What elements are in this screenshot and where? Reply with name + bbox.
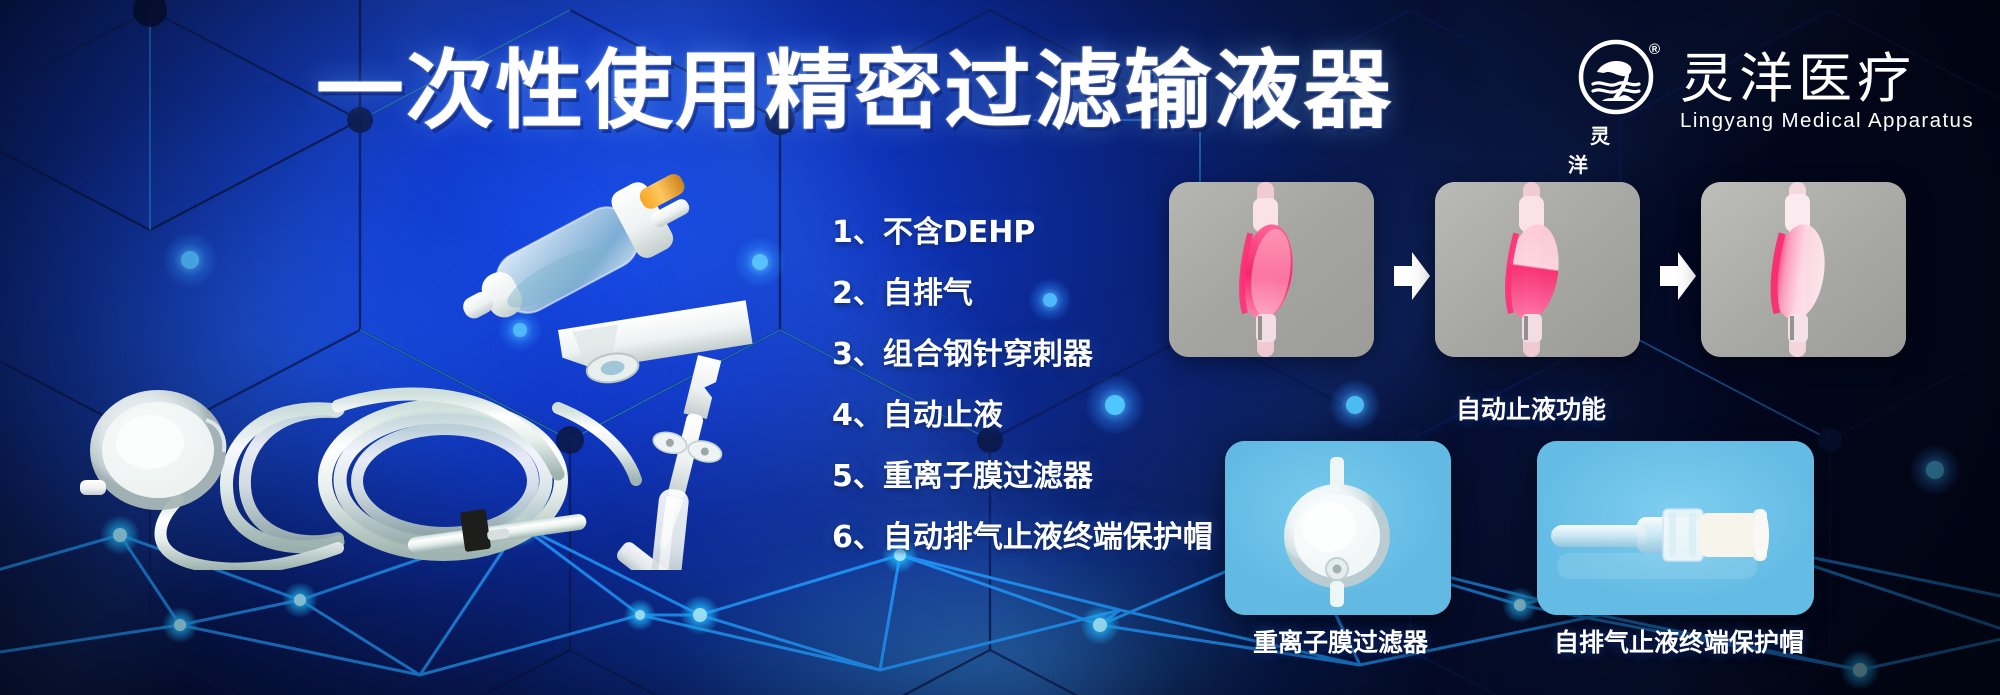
logo-text: 灵洋医疗 Lingyang Medical Apparatus bbox=[1680, 51, 1974, 134]
brand-name-cn: 灵洋医疗 bbox=[1680, 51, 1974, 108]
feature-list: 1、不含DEHP 2、自排气 3、组合钢针穿刺器 4、自动止液 5、重离子膜过滤… bbox=[832, 218, 1213, 553]
registered-mark: ® bbox=[1649, 42, 1660, 57]
filter-photo bbox=[1225, 441, 1451, 615]
logo-emblem-label: 灵 洋 bbox=[1568, 120, 1664, 178]
sequence-arrow-2 bbox=[1658, 248, 1698, 304]
product-photo bbox=[38, 150, 798, 570]
autostop-caption: 自动止液功能 bbox=[1456, 390, 1606, 426]
feature-item-4: 4、自动止液 bbox=[832, 401, 1213, 431]
logo-emblem-icon: ® bbox=[1577, 38, 1655, 116]
cap-photo bbox=[1537, 441, 1814, 615]
cap-caption: 自排气止液终端保护帽 bbox=[1554, 623, 1804, 659]
feature-item-2: 2、自排气 bbox=[832, 279, 1213, 309]
page-title: 一次性使用精密过滤输液器 bbox=[316, 48, 1393, 134]
feature-item-1: 1、不含DEHP bbox=[832, 218, 1213, 248]
filter-caption: 重离子膜过滤器 bbox=[1253, 623, 1428, 659]
brand-logo: ® 灵 洋 灵洋医疗 Lingyang Medical Apparatus bbox=[1568, 38, 1974, 146]
feature-item-3: 3、组合钢针穿刺器 bbox=[832, 340, 1213, 370]
product-banner: 一次性使用精密过滤输液器 ® 灵 洋 灵洋医疗 Lingyang Medical… bbox=[0, 0, 2000, 695]
feature-item-6: 6、自动排气止液终端保护帽 bbox=[832, 523, 1213, 553]
autostop-photo-3 bbox=[1701, 182, 1906, 357]
autostop-photo-1 bbox=[1169, 182, 1374, 357]
feature-item-5: 5、重离子膜过滤器 bbox=[832, 462, 1213, 492]
sequence-arrow-1 bbox=[1392, 248, 1432, 304]
brand-name-en: Lingyang Medical Apparatus bbox=[1680, 109, 1974, 133]
logo-mark: ® 灵 洋 bbox=[1568, 38, 1664, 146]
autostop-photo-2 bbox=[1435, 182, 1640, 357]
